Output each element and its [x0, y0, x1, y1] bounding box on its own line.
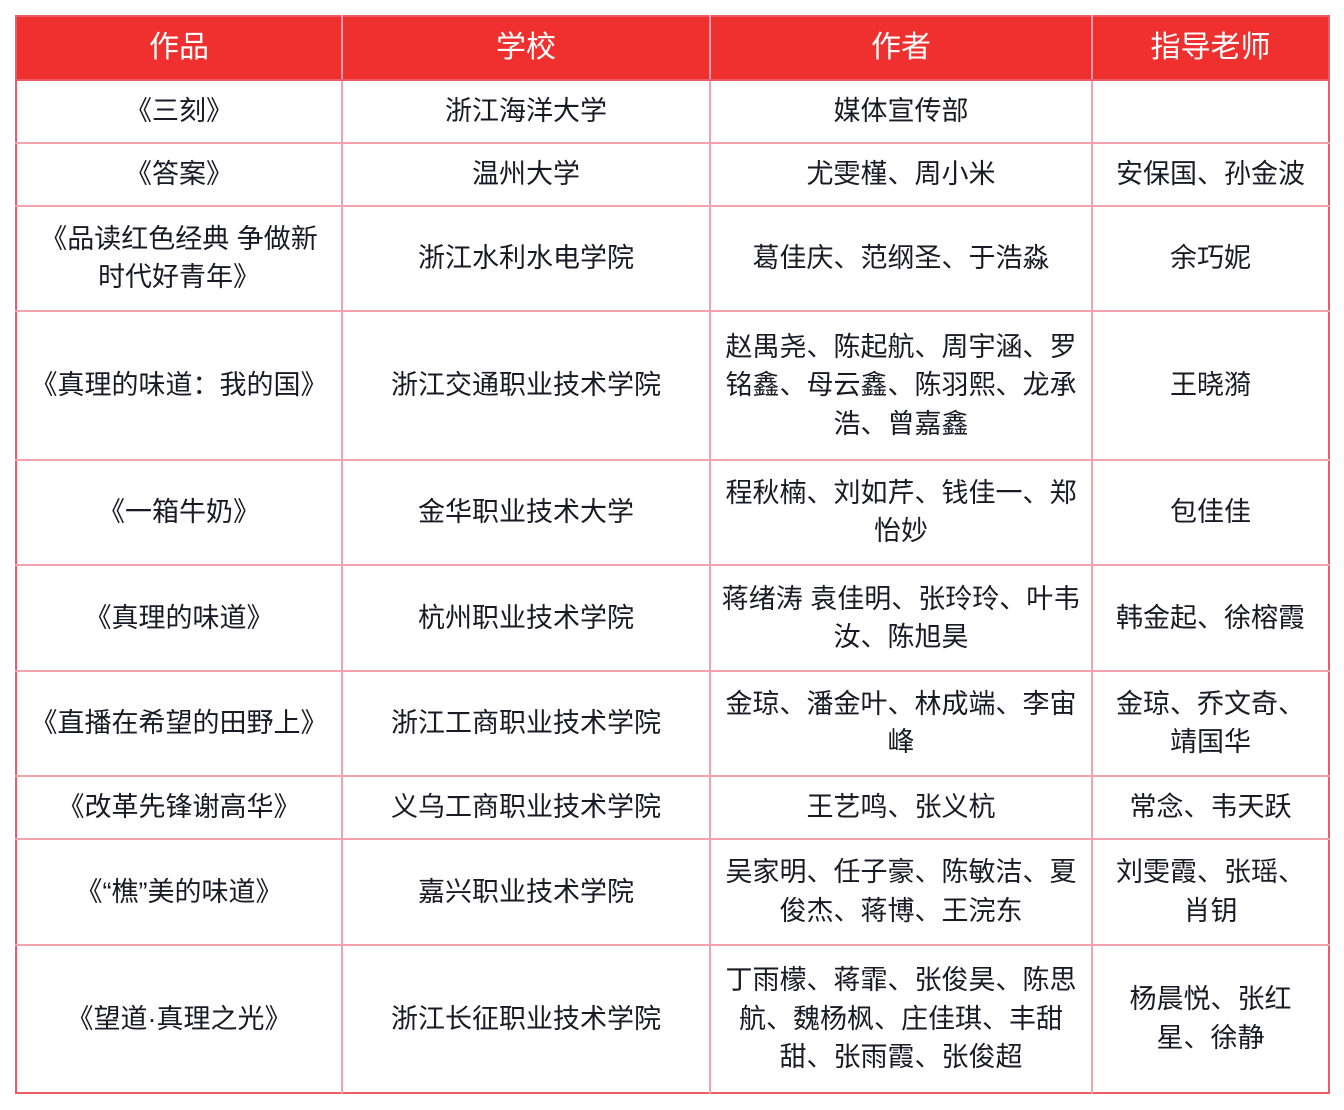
cell-school: 浙江海洋大学	[342, 80, 710, 143]
cell-mentor: 包佳佳	[1092, 460, 1329, 566]
table-row: 《答案》 温州大学 尤雯槿、周小米 安保国、孙金波	[16, 143, 1329, 206]
cell-mentor: 余巧妮	[1092, 206, 1329, 312]
cell-author: 赵禺尧、陈起航、周宇涵、罗铭鑫、母云鑫、陈羽熙、龙承浩、曾嘉鑫	[710, 311, 1092, 459]
cell-author: 葛佳庆、范纲圣、于浩淼	[710, 206, 1092, 312]
cell-school: 浙江交通职业技术学院	[342, 311, 710, 459]
cell-work: 《直播在希望的田野上》	[16, 671, 342, 777]
cell-work: 《“樵”美的味道》	[16, 839, 342, 945]
table-container: 作品 学校 作者 指导老师 《三刻》 浙江海洋大学 媒体宣传部 《答案》 温州大…	[0, 0, 1344, 1110]
table-row: 《“樵”美的味道》 嘉兴职业技术学院 吴家明、任子豪、陈敏洁、夏俊杰、蒋博、王浣…	[16, 839, 1329, 945]
cell-school: 杭州职业技术学院	[342, 565, 710, 671]
cell-school: 义乌工商职业技术学院	[342, 776, 710, 839]
table-header: 作品 学校 作者 指导老师	[16, 16, 1329, 80]
cell-mentor	[1092, 80, 1329, 143]
cell-work: 《改革先锋谢高华》	[16, 776, 342, 839]
cell-author: 金琼、潘金叶、林成端、李宙峰	[710, 671, 1092, 777]
cell-mentor: 常念、韦天跃	[1092, 776, 1329, 839]
table-row: 《真理的味道》 杭州职业技术学院 蒋绪涛 袁佳明、张玲玲、叶韦汝、陈旭昊 韩金起…	[16, 565, 1329, 671]
column-header-work: 作品	[16, 16, 342, 80]
table-row: 《真理的味道：我的国》 浙江交通职业技术学院 赵禺尧、陈起航、周宇涵、罗铭鑫、母…	[16, 311, 1329, 459]
cell-mentor: 金琼、乔文奇、靖国华	[1092, 671, 1329, 777]
cell-school: 嘉兴职业技术学院	[342, 839, 710, 945]
cell-work: 《望道·真理之光》	[16, 945, 342, 1093]
table-body: 《三刻》 浙江海洋大学 媒体宣传部 《答案》 温州大学 尤雯槿、周小米 安保国、…	[16, 80, 1329, 1093]
cell-author: 尤雯槿、周小米	[710, 143, 1092, 206]
cell-mentor: 刘雯霞、张瑶、肖钥	[1092, 839, 1329, 945]
column-header-mentor: 指导老师	[1092, 16, 1329, 80]
cell-author: 丁雨檬、蒋霏、张俊昊、陈思航、魏杨枫、庄佳琪、丰甜甜、张雨霞、张俊超	[710, 945, 1092, 1093]
awards-table: 作品 学校 作者 指导老师 《三刻》 浙江海洋大学 媒体宣传部 《答案》 温州大…	[15, 15, 1330, 1094]
table-row: 《直播在希望的田野上》 浙江工商职业技术学院 金琼、潘金叶、林成端、李宙峰 金琼…	[16, 671, 1329, 777]
cell-school: 浙江长征职业技术学院	[342, 945, 710, 1093]
cell-mentor: 王晓漪	[1092, 311, 1329, 459]
cell-school: 浙江水利水电学院	[342, 206, 710, 312]
cell-author: 媒体宣传部	[710, 80, 1092, 143]
cell-work: 《真理的味道：我的国》	[16, 311, 342, 459]
cell-author: 蒋绪涛 袁佳明、张玲玲、叶韦汝、陈旭昊	[710, 565, 1092, 671]
table-row: 《改革先锋谢高华》 义乌工商职业技术学院 王艺鸣、张义杭 常念、韦天跃	[16, 776, 1329, 839]
cell-school: 浙江工商职业技术学院	[342, 671, 710, 777]
cell-author: 王艺鸣、张义杭	[710, 776, 1092, 839]
table-row: 《品读红色经典 争做新时代好青年》 浙江水利水电学院 葛佳庆、范纲圣、于浩淼 余…	[16, 206, 1329, 312]
column-header-author: 作者	[710, 16, 1092, 80]
cell-work: 《三刻》	[16, 80, 342, 143]
cell-author: 吴家明、任子豪、陈敏洁、夏俊杰、蒋博、王浣东	[710, 839, 1092, 945]
cell-mentor: 韩金起、徐榕霞	[1092, 565, 1329, 671]
column-header-school: 学校	[342, 16, 710, 80]
header-row: 作品 学校 作者 指导老师	[16, 16, 1329, 80]
cell-work: 《真理的味道》	[16, 565, 342, 671]
table-row: 《三刻》 浙江海洋大学 媒体宣传部	[16, 80, 1329, 143]
cell-work: 《一箱牛奶》	[16, 460, 342, 566]
cell-work: 《答案》	[16, 143, 342, 206]
cell-mentor: 安保国、孙金波	[1092, 143, 1329, 206]
cell-mentor: 杨晨悦、张红星、徐静	[1092, 945, 1329, 1093]
table-row: 《一箱牛奶》 金华职业技术大学 程秋楠、刘如芹、钱佳一、郑怡妙 包佳佳	[16, 460, 1329, 566]
table-row: 《望道·真理之光》 浙江长征职业技术学院 丁雨檬、蒋霏、张俊昊、陈思航、魏杨枫、…	[16, 945, 1329, 1093]
cell-school: 金华职业技术大学	[342, 460, 710, 566]
cell-work: 《品读红色经典 争做新时代好青年》	[16, 206, 342, 312]
cell-author: 程秋楠、刘如芹、钱佳一、郑怡妙	[710, 460, 1092, 566]
cell-school: 温州大学	[342, 143, 710, 206]
